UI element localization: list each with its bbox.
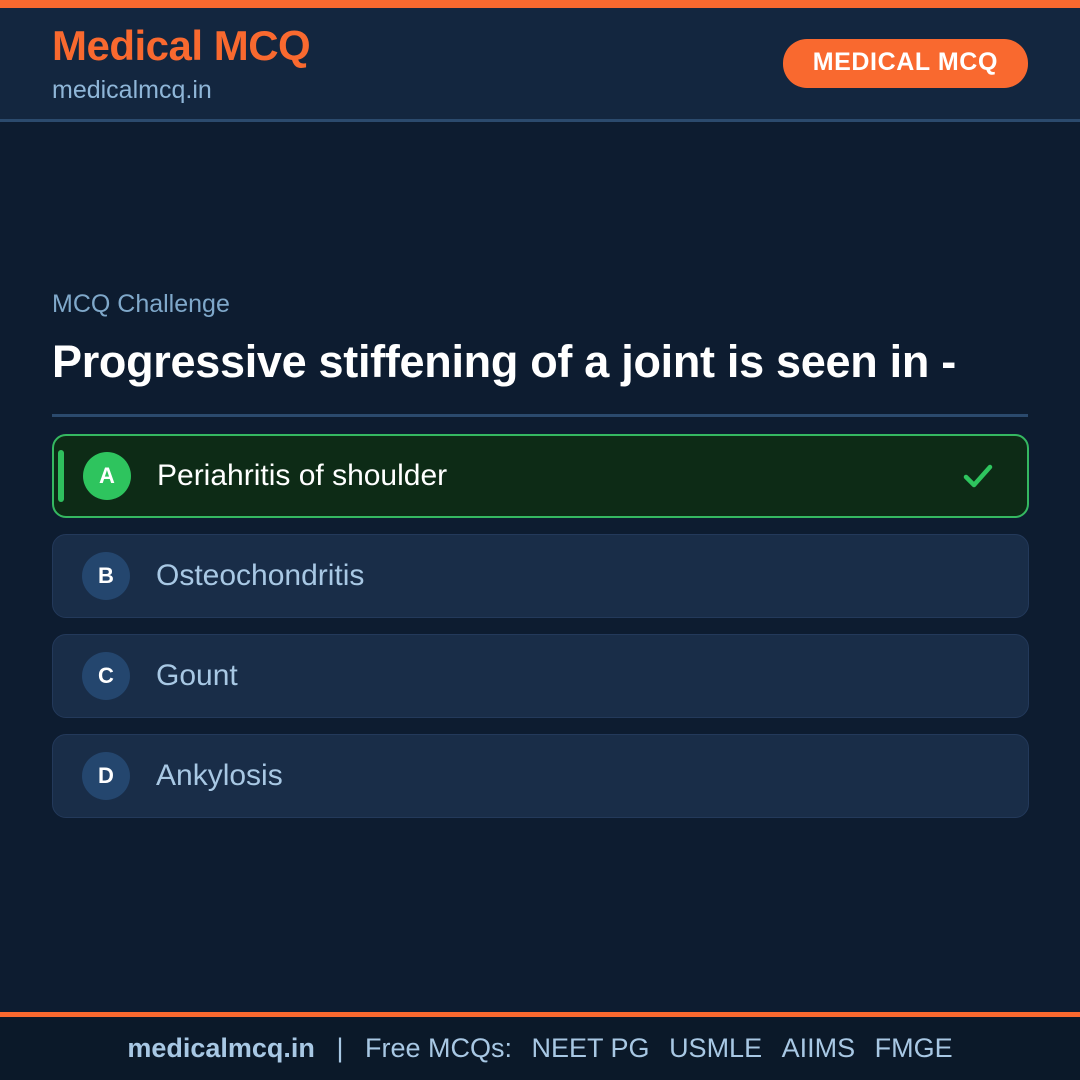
footer: medicalmcq.in | Free MCQs: NEET PG USMLE… (0, 1012, 1080, 1080)
footer-free-label: Free MCQs: (365, 1033, 512, 1063)
option-letter-badge: B (82, 552, 130, 600)
question-block: MCQ Challenge Progressive stiffening of … (52, 292, 1028, 388)
option-letter-badge: C (82, 652, 130, 700)
option-letter-badge: A (83, 452, 131, 500)
footer-text: medicalmcq.in | Free MCQs: NEET PG USMLE… (127, 1035, 952, 1062)
main-content: MCQ Challenge Progressive stiffening of … (0, 122, 1080, 1012)
option-b[interactable]: B Osteochondritis (52, 534, 1029, 618)
mcq-slide: Medical MCQ medicalmcq.in MEDICAL MCQ MC… (0, 0, 1080, 1080)
option-d[interactable]: D Ankylosis (52, 734, 1029, 818)
option-a[interactable]: A Periahritis of shoulder (52, 434, 1029, 518)
correct-accent-bar (58, 450, 64, 502)
header-badge: MEDICAL MCQ (783, 39, 1028, 88)
brand: Medical MCQ medicalmcq.in (52, 25, 310, 103)
footer-exam-aiims: AIIMS (782, 1033, 856, 1063)
question-text: Progressive stiffening of a joint is see… (52, 335, 1028, 388)
check-icon (961, 459, 995, 493)
option-c[interactable]: C Gount (52, 634, 1029, 718)
divider (52, 414, 1028, 417)
options-list: A Periahritis of shoulder B Osteochondri… (52, 434, 1028, 818)
brand-title: Medical MCQ (52, 25, 310, 67)
option-label: Osteochondritis (156, 561, 364, 591)
footer-exam-fmge: FMGE (875, 1033, 953, 1063)
brand-subtitle: medicalmcq.in (52, 78, 310, 103)
option-label: Periahritis of shoulder (157, 461, 447, 491)
top-accent-bar (0, 0, 1080, 8)
footer-exam-usmle: USMLE (669, 1033, 762, 1063)
header: Medical MCQ medicalmcq.in MEDICAL MCQ (0, 8, 1080, 122)
footer-separator: | (336, 1033, 343, 1063)
footer-site: medicalmcq.in (127, 1033, 315, 1063)
option-label: Gount (156, 661, 238, 691)
footer-exam-neetpg: NEET PG (532, 1033, 650, 1063)
option-letter-badge: D (82, 752, 130, 800)
eyebrow-label: MCQ Challenge (52, 292, 1028, 317)
option-label: Ankylosis (156, 761, 283, 791)
